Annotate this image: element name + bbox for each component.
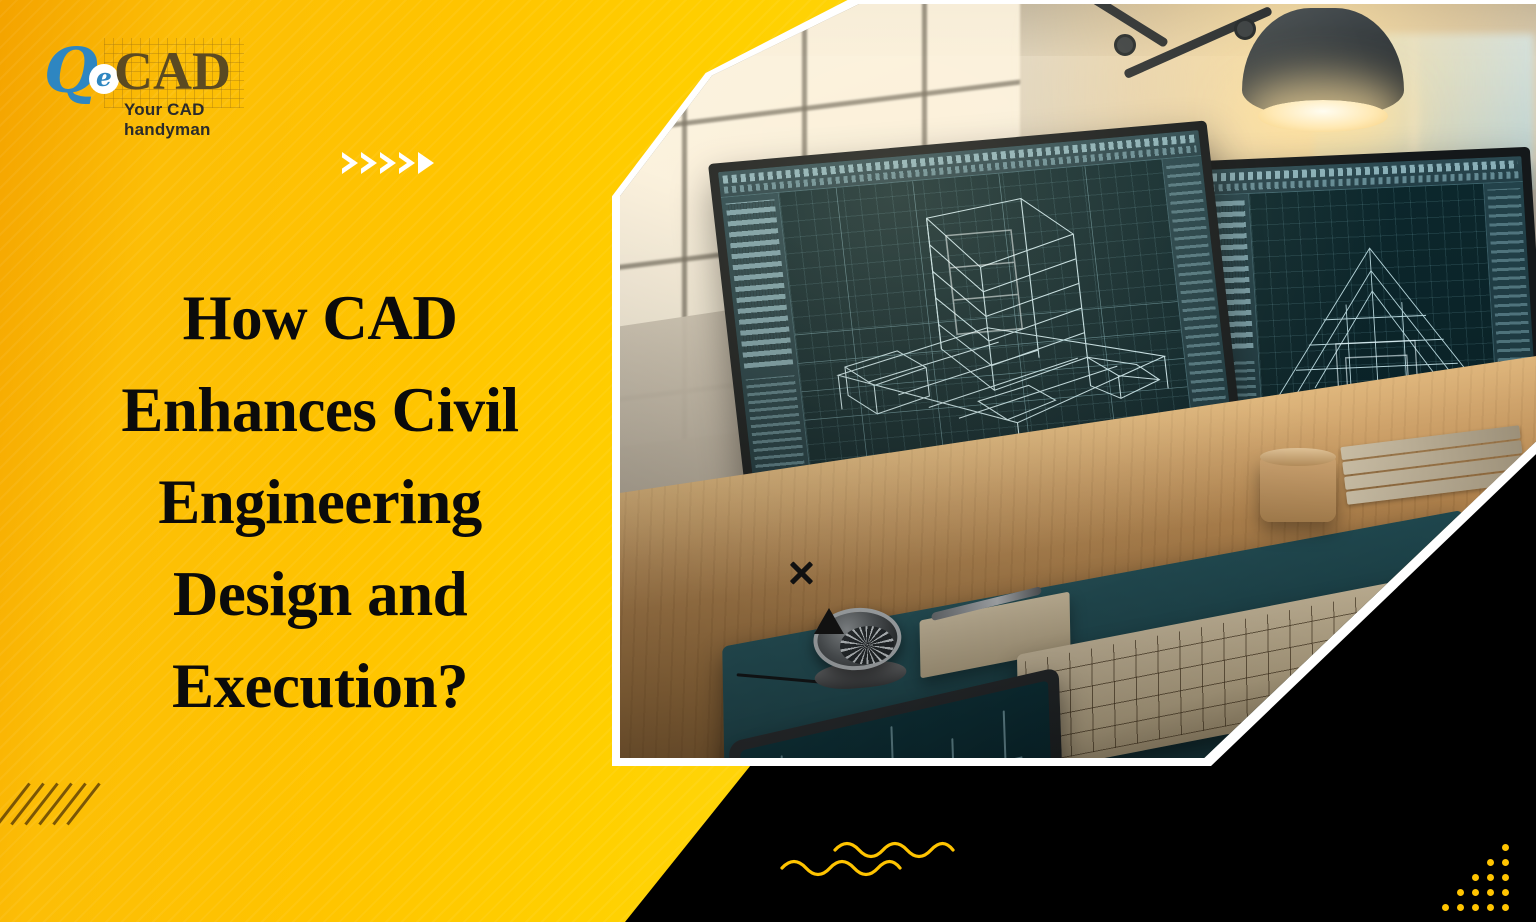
dot-cell xyxy=(1487,859,1494,866)
dot-cell xyxy=(1442,844,1449,851)
dot-cell xyxy=(1472,844,1479,851)
dot-cell xyxy=(1472,889,1479,896)
dot-cell xyxy=(1442,859,1449,866)
chevron-right-outline-icon xyxy=(361,152,377,174)
dot-cell xyxy=(1487,844,1494,851)
logo-wordmark-cad: CAD xyxy=(114,42,231,100)
dot-cell xyxy=(1502,874,1509,881)
qecad-logo[interactable]: Q e CAD Your CAD handyman xyxy=(44,38,244,124)
lamp-joint xyxy=(1114,34,1136,56)
dot-cell xyxy=(1487,874,1494,881)
wavy-line-decoration xyxy=(780,836,970,897)
tablet-wireframe-line xyxy=(951,738,957,758)
title-line-2: Enhances Civil xyxy=(0,364,640,456)
dot-cell xyxy=(1502,889,1509,896)
page-title: How CAD Enhances Civil Engineering Desig… xyxy=(0,272,640,732)
triangle-marker-icon xyxy=(814,608,844,634)
tablet-wireframe-line xyxy=(781,755,788,758)
dot-cell xyxy=(1472,904,1479,911)
dot-cell xyxy=(1442,874,1449,881)
dot-cell xyxy=(1487,889,1494,896)
diagonal-hatch-decoration xyxy=(10,778,86,832)
dot-cell xyxy=(1442,889,1449,896)
lamp-bulb xyxy=(1258,100,1388,132)
logo-tagline: Your CAD handyman xyxy=(124,100,244,140)
chevron-right-outline-icon xyxy=(380,152,396,174)
title-line-5: Execution? xyxy=(0,640,640,732)
dot-cell xyxy=(1472,859,1479,866)
dot-cell xyxy=(1502,859,1509,866)
dot-cell xyxy=(1487,904,1494,911)
dot-cell xyxy=(1457,874,1464,881)
title-line-3: Engineering xyxy=(0,456,640,548)
title-line-4: Design and xyxy=(0,548,640,640)
wave-line-upper xyxy=(835,844,953,857)
cross-marker-icon xyxy=(788,560,814,586)
coffee-cup xyxy=(1260,456,1336,522)
dot-cell xyxy=(1457,889,1464,896)
chevron-right-outline-icon xyxy=(399,152,415,174)
tablet-wireframe-line xyxy=(890,726,897,758)
logo-letter-e: e xyxy=(96,65,112,90)
dot-cell xyxy=(1502,844,1509,851)
lamp-joint xyxy=(1234,18,1256,40)
cad-properties-panel xyxy=(746,375,806,476)
dot-cell xyxy=(1472,874,1479,881)
cup-rim xyxy=(1260,448,1336,466)
dot-cell xyxy=(1502,904,1509,911)
chevron-arrow-icon-group xyxy=(342,152,434,174)
dot-grid-decoration xyxy=(1438,840,1513,915)
title-line-1: How CAD xyxy=(0,272,640,364)
tablet-wireframe-line xyxy=(773,756,1023,758)
chevron-right-outline-icon xyxy=(342,152,358,174)
dot-cell xyxy=(1457,859,1464,866)
dot-cell xyxy=(1442,904,1449,911)
wavy-lines-svg xyxy=(780,836,970,892)
logo-letter-q: Q xyxy=(44,40,96,102)
banner-canvas: Q e CAD Your CAD handyman How CAD Enhanc… xyxy=(0,0,1536,922)
mouse-control-ring xyxy=(838,624,895,667)
dot-cell xyxy=(1457,844,1464,851)
tablet-wireframe-line xyxy=(1003,710,1010,758)
wave-line-lower xyxy=(782,862,900,875)
chevron-right-solid-icon xyxy=(418,152,434,174)
dot-cell xyxy=(1457,904,1464,911)
